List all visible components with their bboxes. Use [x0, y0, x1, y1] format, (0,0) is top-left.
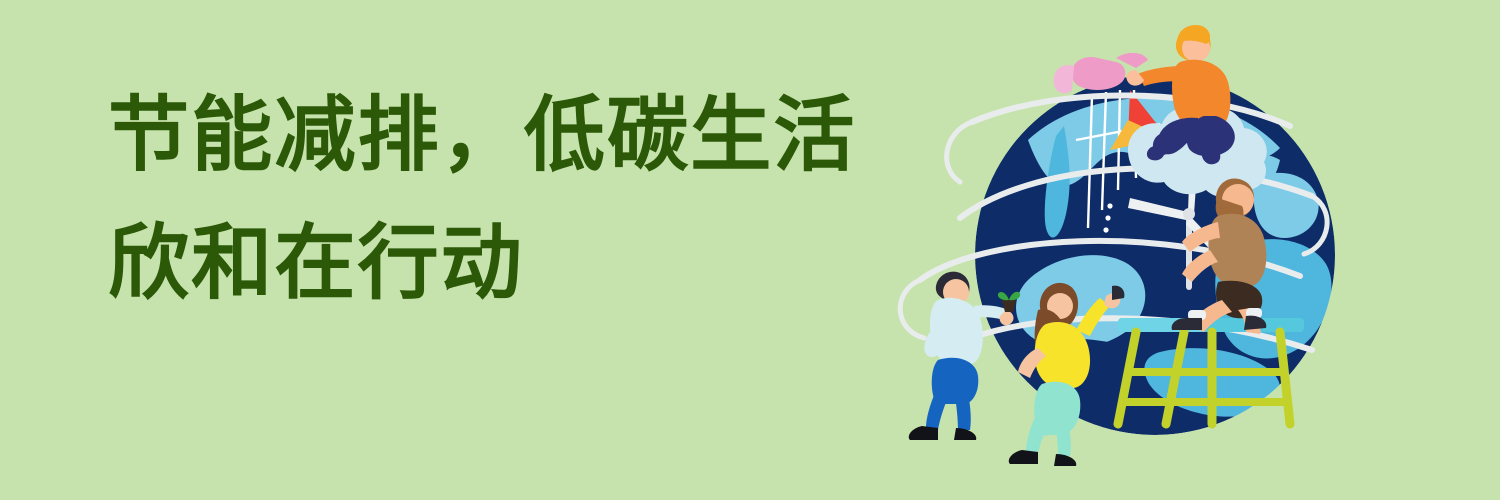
headline-block: 节能减排，低碳生活 欣和在行动: [108, 72, 868, 328]
eco-campaign-banner: 节能减排，低碳生活 欣和在行动: [0, 0, 1500, 500]
headline-line-2: 欣和在行动: [108, 200, 860, 328]
low-carbon-earth-illustration: [860, 0, 1500, 500]
headline-line-1: 节能减排，低碳生活: [108, 72, 860, 200]
